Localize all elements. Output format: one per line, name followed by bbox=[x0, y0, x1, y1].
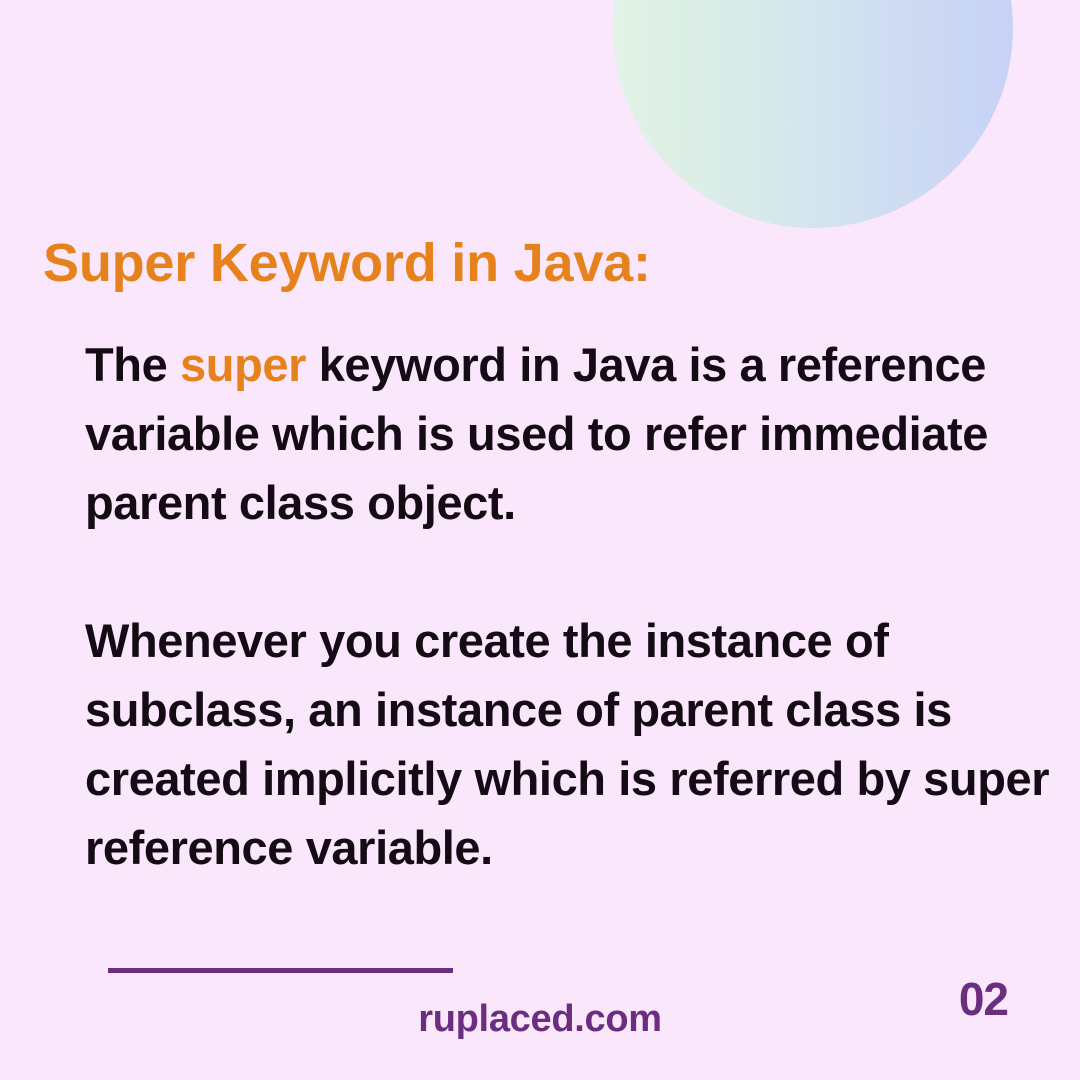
slide-canvas: Super Keyword in Java: The super keyword… bbox=[0, 0, 1080, 1080]
paragraph-1-lead: The bbox=[85, 338, 180, 391]
paragraph-1: The super keyword in Java is a reference… bbox=[85, 330, 1060, 537]
page-title: Super Keyword in Java: bbox=[43, 234, 651, 293]
gradient-circle-decoration bbox=[613, 0, 1013, 228]
paragraph-2: Whenever you create the instance of subc… bbox=[85, 606, 1060, 882]
footer-website-label: ruplaced.com bbox=[0, 998, 1080, 1041]
page-number-badge: 02 bbox=[959, 972, 1008, 1026]
body-content: The super keyword in Java is a reference… bbox=[85, 330, 1060, 882]
paragraph-1-keyword-super: super bbox=[180, 338, 306, 391]
footer-divider-rule bbox=[108, 968, 453, 973]
